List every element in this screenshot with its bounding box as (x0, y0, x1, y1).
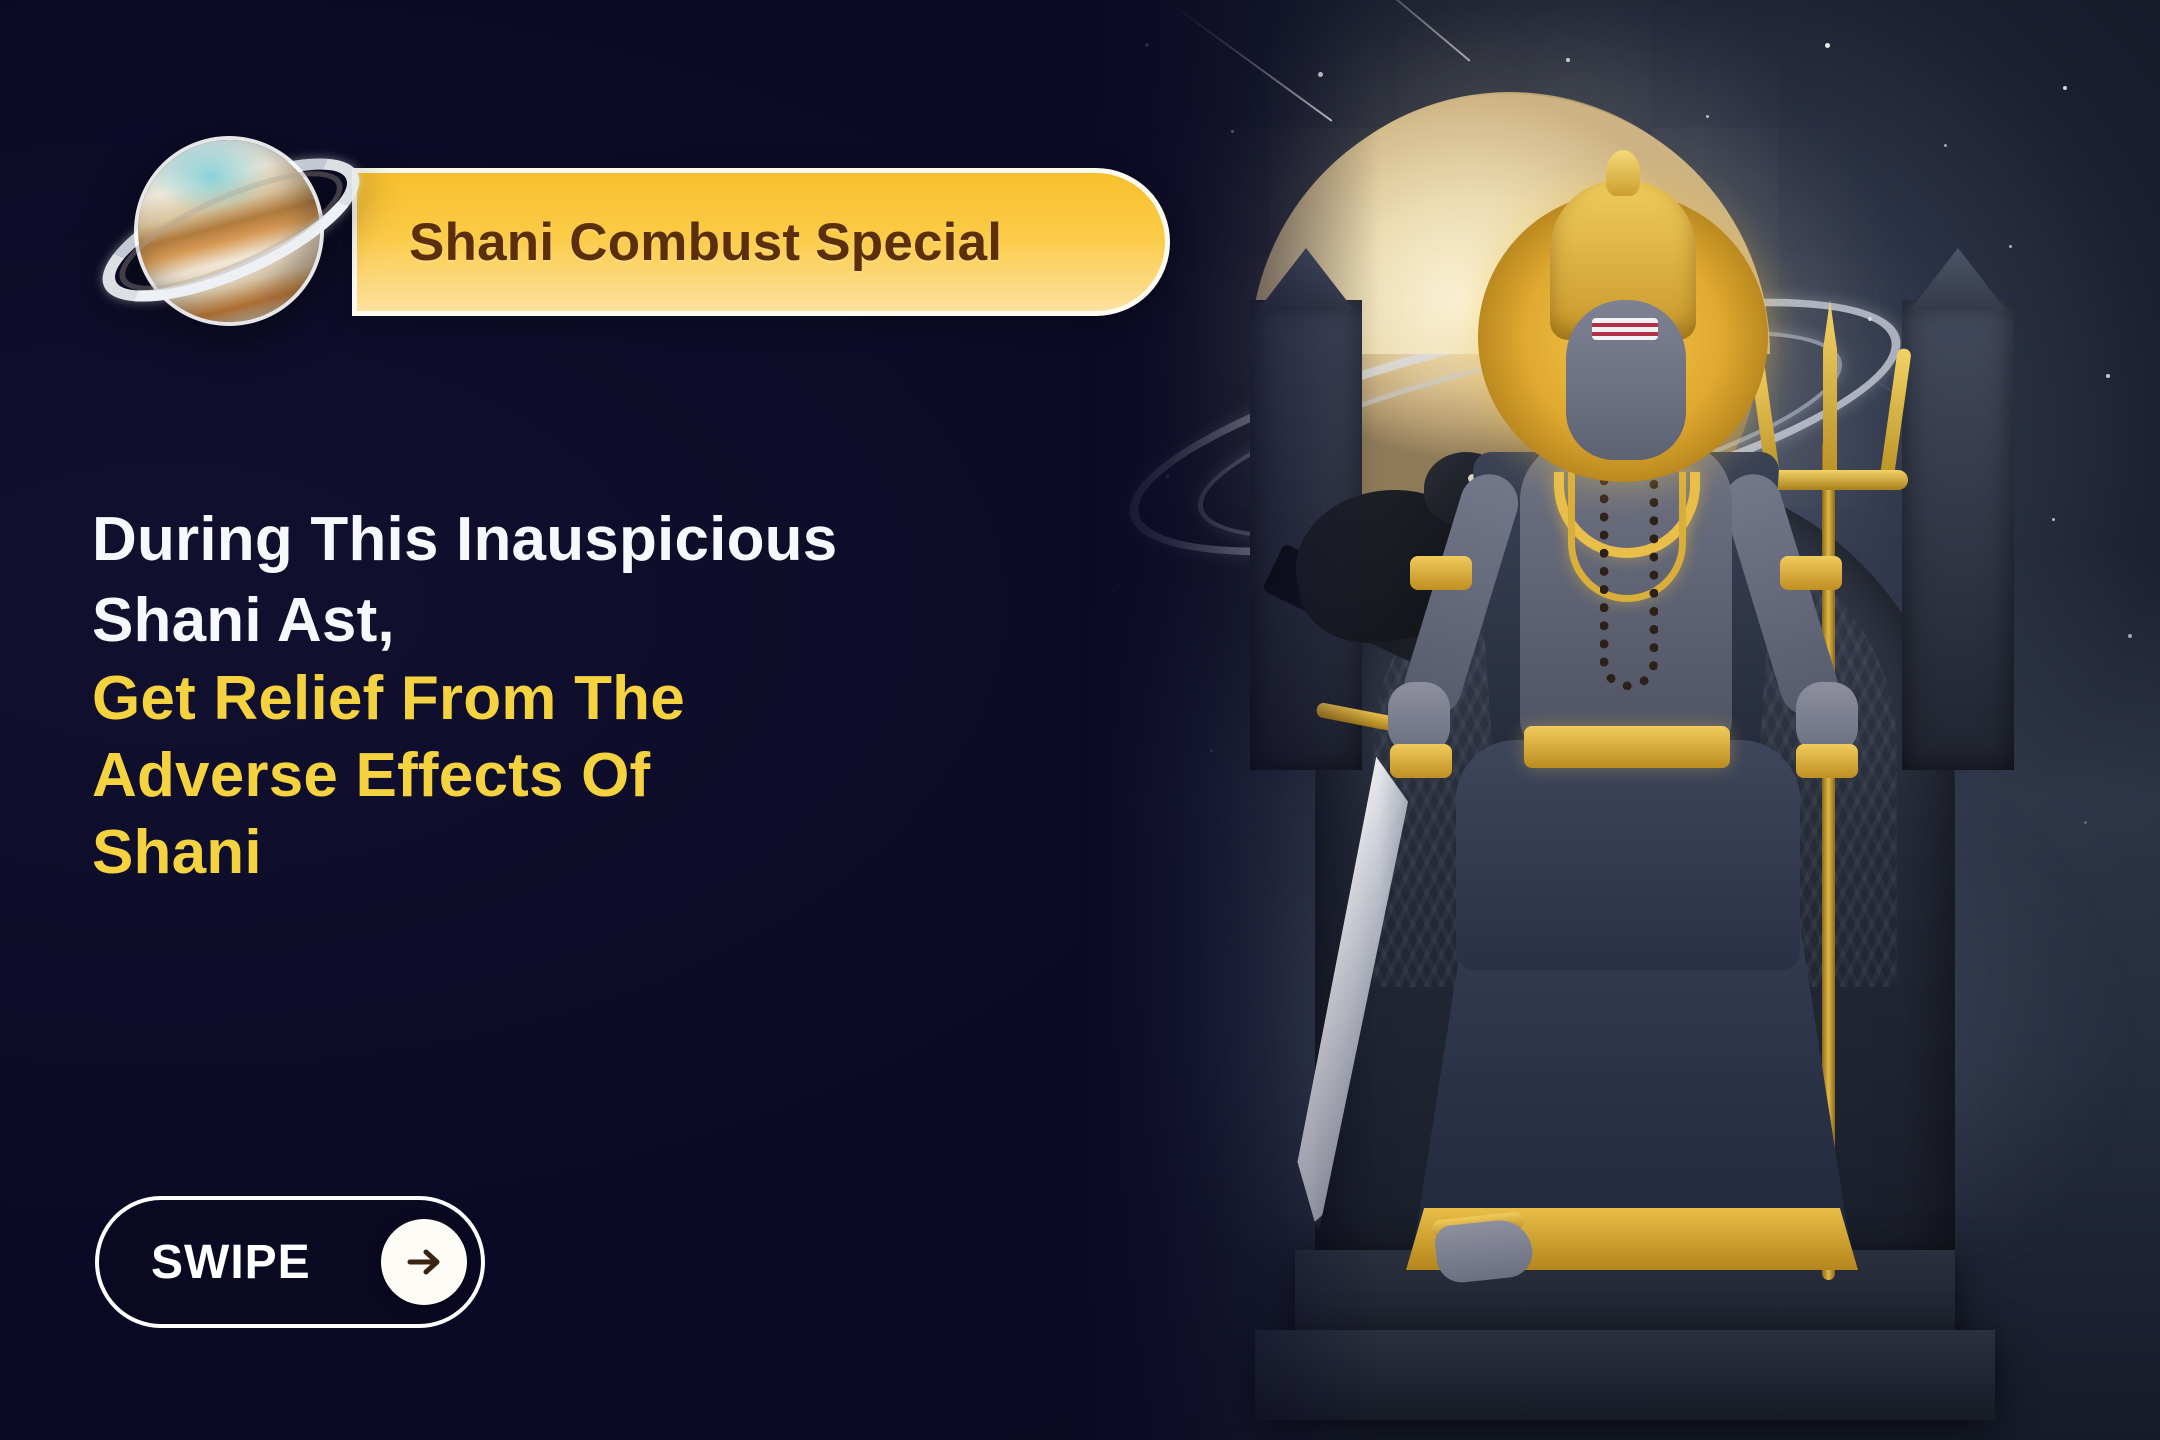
saturn-planet-icon (96, 110, 366, 340)
swipe-label: SWIPE (151, 1235, 381, 1290)
armlet-right-upper (1780, 556, 1842, 590)
armlet-left-upper (1410, 556, 1472, 590)
armlet-right-lower (1796, 744, 1858, 778)
swipe-button[interactable]: SWIPE (95, 1196, 485, 1328)
foot (1433, 1217, 1535, 1285)
badge: Shani Combust Special (352, 168, 1170, 316)
waist-belt (1524, 726, 1730, 768)
headline-line-4: Adverse Effects Of (92, 738, 1052, 815)
shani-artwork (1080, 0, 2160, 1440)
badge-container: Shani Combust Special (352, 168, 1170, 316)
headline: During This Inauspicious Shani Ast, Get … (92, 500, 1052, 892)
headline-line-3: Get Relief From The (92, 661, 1052, 738)
headline-line-2: Shani Ast, (92, 581, 1052, 662)
headline-line-1: During This Inauspicious (92, 500, 1052, 581)
badge-label: Shani Combust Special (409, 212, 1002, 273)
crossed-legs (1456, 740, 1800, 970)
tilak-mark (1592, 318, 1658, 340)
armlet-left-lower (1390, 744, 1452, 778)
headline-line-5: Shani (92, 815, 1052, 892)
promo-banner: Shani Combust Special During This Inausp… (0, 0, 2160, 1440)
rudraksha-mala (1600, 480, 1658, 690)
arrow-right-icon[interactable] (381, 1219, 467, 1305)
